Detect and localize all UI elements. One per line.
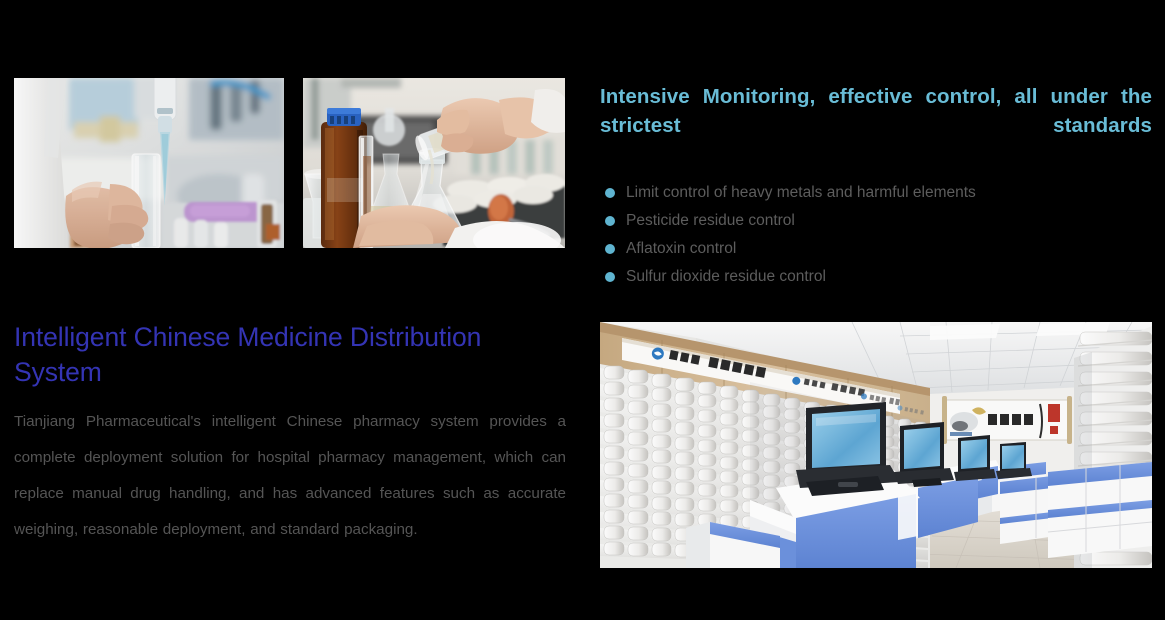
bottom-body-text: Tianjiang Pharmaceutical's intelligent C… — [14, 404, 566, 548]
bullet-dot-icon — [605, 188, 615, 198]
lab-flask-photo — [303, 78, 565, 248]
list-item: Pesticide residue control — [600, 207, 1152, 235]
list-item: Sulfur dioxide residue control — [600, 263, 1152, 291]
bullet-dot-icon — [605, 216, 615, 226]
bullet-label: Aflatoxin control — [626, 240, 736, 257]
top-section: Intensive Monitoring, effective control,… — [0, 0, 1165, 300]
bullet-label: Limit control of heavy metals and harmfu… — [626, 184, 976, 201]
lab-pipette-photo — [14, 78, 284, 248]
top-photo-strip — [14, 78, 565, 248]
bullet-dot-icon — [605, 272, 615, 282]
top-heading: Intensive Monitoring, effective control,… — [600, 82, 1152, 169]
list-item: Aflatoxin control — [600, 235, 1152, 263]
bottom-section: Intelligent Chinese Medicine Distributio… — [0, 300, 1165, 620]
bottom-text-block: Intelligent Chinese Medicine Distributio… — [14, 320, 566, 548]
quality-control-bullet-list: Limit control of heavy metals and harmfu… — [600, 179, 1152, 291]
intelligent-pharmacy-render — [600, 322, 1152, 568]
top-text-block: Intensive Monitoring, effective control,… — [600, 82, 1152, 291]
list-item: Limit control of heavy metals and harmfu… — [600, 179, 1152, 207]
page-title: Intelligent Chinese Medicine Distributio… — [14, 320, 566, 390]
bullet-label: Sulfur dioxide residue control — [626, 268, 826, 285]
bullet-dot-icon — [605, 244, 615, 254]
bullet-label: Pesticide residue control — [626, 212, 795, 229]
